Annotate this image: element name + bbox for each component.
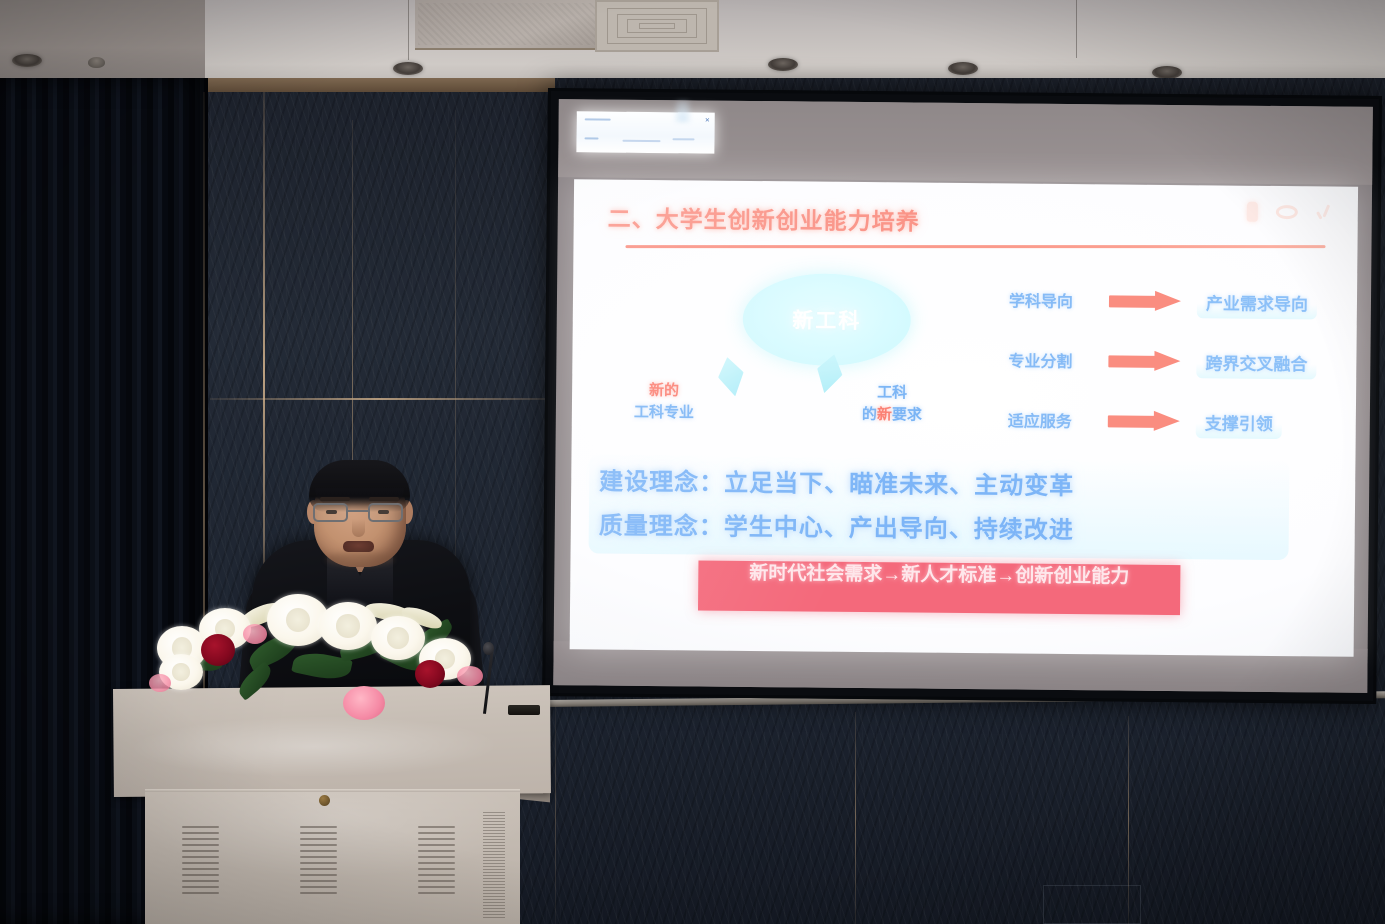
wall-recess-outline bbox=[1043, 885, 1141, 924]
right-concept-label: 工科 的新要求 bbox=[862, 382, 922, 426]
arrow-right-icon bbox=[1109, 292, 1183, 310]
new-engineering-oval: 新工科 bbox=[742, 273, 911, 367]
ceiling-seam bbox=[408, 0, 409, 60]
presenter-nose bbox=[352, 519, 365, 537]
close-icon[interactable]: × bbox=[705, 116, 710, 125]
transition-to: 产业需求导向 bbox=[1197, 285, 1317, 319]
wall-panel-seam bbox=[855, 712, 856, 924]
lectern-vent-right bbox=[418, 826, 455, 894]
downlight-icon bbox=[393, 62, 423, 75]
transition-row: 适应服务 支撑引领 bbox=[1008, 389, 1339, 452]
arrow-right-icon bbox=[1108, 412, 1182, 430]
screen-surface: × 二、大学生创新创业能力培养 新工科 bbox=[553, 99, 1373, 693]
left-label-line2: 工科专业 bbox=[634, 402, 694, 424]
lectern-vent-left bbox=[182, 826, 219, 894]
concept-line-2: 质量理念：学生中心、产出导向、持续改进 bbox=[599, 506, 1074, 546]
hvac-diffuser-icon bbox=[595, 0, 719, 52]
wall-panel-seam bbox=[455, 110, 456, 630]
ceiling-seam bbox=[1076, 0, 1077, 58]
slide-title: 二、大学生创新创业能力培养 bbox=[608, 200, 920, 237]
projector-light-spill bbox=[675, 100, 691, 122]
transition-to: 跨界交叉融合 bbox=[1196, 345, 1316, 379]
smoke-detector-icon bbox=[88, 57, 105, 68]
transition-from: 专业分割 bbox=[1008, 347, 1094, 372]
lectern-hardware-plate bbox=[508, 705, 540, 715]
right-label-line2: 的新要求 bbox=[862, 404, 922, 426]
concept-line-1: 建设理念：立足当下、瞄准未来、主动变革 bbox=[599, 462, 1074, 502]
presentation-slide: 二、大学生创新创业能力培养 新工科 新的 工科专业 bbox=[570, 179, 1358, 657]
downlight-icon bbox=[12, 54, 42, 67]
mini-window-overlay[interactable]: × bbox=[576, 111, 714, 153]
arrow-right-icon bbox=[1108, 352, 1182, 370]
left-concept-label: 新的 工科专业 bbox=[634, 380, 694, 424]
left-pointer-icon bbox=[715, 355, 748, 399]
banner-text: 新时代社会需求→新人才标准→创新创业能力 bbox=[704, 561, 1174, 588]
transition-row: 专业分割 跨界交叉融合 bbox=[1008, 329, 1339, 392]
lectern-lock-knob-icon[interactable] bbox=[319, 795, 330, 806]
ceiling-left-soffit bbox=[0, 0, 205, 80]
floral-arrangement bbox=[143, 588, 493, 710]
left-label-line1: 新的 bbox=[634, 380, 694, 402]
transition-rows: 学科导向 产业需求导向 专业分割 跨界交叉融合 适应服务 支撑引领 bbox=[1008, 269, 1340, 452]
oval-label: 新工科 bbox=[792, 304, 861, 335]
downlight-icon bbox=[768, 58, 798, 71]
transition-row: 学科导向 产业需求导向 bbox=[1009, 269, 1340, 332]
slide-banner: 新时代社会需求→新人才标准→创新创业能力 bbox=[698, 560, 1180, 615]
transition-from: 学科导向 bbox=[1009, 287, 1095, 312]
transition-from: 适应服务 bbox=[1008, 407, 1094, 432]
downlight-icon bbox=[948, 62, 978, 75]
wood-ledge bbox=[205, 78, 555, 92]
sparkle-icon bbox=[1316, 202, 1336, 222]
title-underline bbox=[625, 245, 1325, 248]
presenter-brow-left bbox=[320, 497, 350, 501]
right-label-line1: 工科 bbox=[862, 382, 922, 404]
lectern-vent-center bbox=[300, 826, 337, 894]
microphone-head-icon bbox=[483, 642, 494, 655]
transition-to: 支撑引领 bbox=[1196, 405, 1282, 439]
wall-panel-seam bbox=[555, 706, 556, 924]
slide-decoration-icons bbox=[1247, 202, 1336, 223]
lectern-side-grille bbox=[483, 812, 505, 918]
projection-screen: × 二、大学生创新创业能力培养 新工科 bbox=[542, 88, 1382, 704]
presenter-chin-shadow bbox=[326, 552, 394, 566]
presenter-brow-right bbox=[369, 497, 399, 501]
wall-trim-horizontal bbox=[210, 398, 548, 400]
ring-icon bbox=[1276, 205, 1298, 219]
bottle-icon bbox=[1247, 202, 1258, 222]
presenter-mouth bbox=[343, 541, 374, 552]
lecture-hall-photo: × 二、大学生创新创业能力培养 新工科 bbox=[0, 0, 1385, 924]
